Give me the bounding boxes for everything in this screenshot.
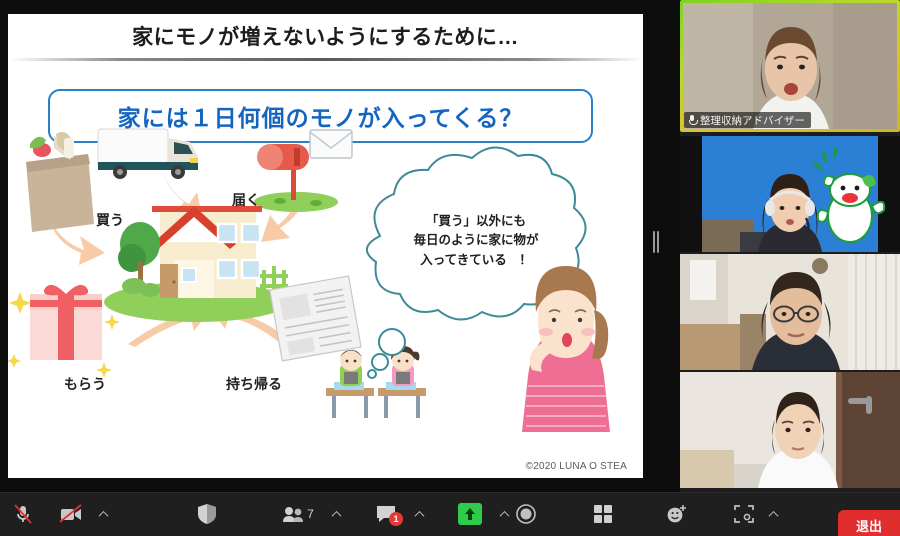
label-bring-home: 持ち帰る [226, 374, 282, 394]
presentation-slide: 家にモノが増えないようにするために… 家には１日何個のモノが入ってくる？ [8, 14, 643, 478]
chat-unread-badge: 1 [389, 512, 403, 526]
apps-grid-icon [593, 504, 613, 524]
meeting-toolbar: 7 1 [0, 492, 900, 536]
label-receive: もらう [64, 374, 106, 394]
video-off-wrapper[interactable] [52, 492, 90, 536]
record-icon [516, 504, 536, 524]
participant-name-tag-1: 整理収納アドバイザー [684, 112, 811, 128]
slide-copyright: ©2020 LUNA O STEA [526, 461, 627, 472]
label-deliver: 届く [232, 190, 260, 210]
video-off-icon [59, 504, 83, 524]
newspaper-illustration [270, 276, 361, 361]
participants-button[interactable]: 7 [275, 492, 321, 536]
shield-icon [197, 503, 217, 525]
slide-title: 家にモノが増えないようにするために… [8, 14, 643, 58]
bubble-line-3: 入ってきている ！ [376, 251, 576, 270]
participant-video-4 [680, 372, 900, 488]
record-button[interactable] [508, 492, 544, 536]
focus-button[interactable] [726, 492, 762, 536]
participants-count: 7 [307, 507, 314, 521]
panel-resize-grip[interactable] [653, 230, 659, 254]
mic-muted-icon [12, 503, 34, 525]
participants-icon [282, 506, 304, 522]
focus-frame-icon [734, 504, 754, 524]
participant-video-3 [680, 254, 900, 370]
participant-video-1 [683, 3, 897, 129]
gift-box-illustration [8, 285, 120, 378]
leave-label: 退出 [856, 516, 882, 535]
focus-options-chevron[interactable] [766, 492, 780, 536]
share-screen-icon [458, 503, 482, 525]
leave-meeting-button[interactable]: 退出 [838, 510, 900, 536]
label-buy: 買う [96, 210, 124, 230]
video-options-chevron[interactable] [96, 492, 110, 536]
delivery-truck-illustration [98, 129, 198, 179]
participant-video-strip: 整理収納アドバイザー [680, 0, 900, 492]
zoom-meeting-window: 家にモノが増えないようにするために… 家には１日何個のモノが入ってくる？ [0, 0, 900, 536]
shopping-bag-illustration [26, 132, 94, 232]
chat-button[interactable]: 1 [368, 492, 404, 536]
mic-icon [688, 115, 696, 126]
shared-screen-area[interactable]: 家にモノが増えないようにするために… 家には１日何個のモノが入ってくる？ [0, 0, 680, 492]
participant-tile-4[interactable] [680, 372, 900, 488]
participants-options-chevron[interactable] [329, 492, 343, 536]
apps-button[interactable] [585, 492, 621, 536]
participant-video-2 [680, 136, 900, 252]
participant-tile-1[interactable]: 整理収納アドバイザー [680, 0, 900, 132]
slide-diagram: 買う 届く もらう 持ち帰る [8, 124, 643, 478]
bubble-line-1: 「買う」以外にも [376, 212, 576, 231]
thought-bubble-text: 「買う」以外にも 毎日のように家に物が 入ってきている ！ [376, 212, 576, 270]
participant-tile-2[interactable] [680, 136, 900, 252]
security-button[interactable] [190, 492, 224, 536]
bubble-line-2: 毎日のように家に物が [376, 231, 576, 250]
house-illustration [104, 206, 288, 322]
reactions-icon [666, 504, 688, 524]
diagram-illustration [8, 124, 643, 478]
participant-name-1: 整理収納アドバイザー [700, 113, 805, 128]
mute-button[interactable] [6, 492, 40, 536]
share-screen-button[interactable] [452, 492, 488, 536]
slide-title-divider [8, 58, 643, 61]
chat-options-chevron[interactable] [412, 492, 426, 536]
reactions-button[interactable] [659, 492, 695, 536]
participant-tile-3[interactable] [680, 254, 900, 370]
envelope-illustration [310, 130, 352, 158]
